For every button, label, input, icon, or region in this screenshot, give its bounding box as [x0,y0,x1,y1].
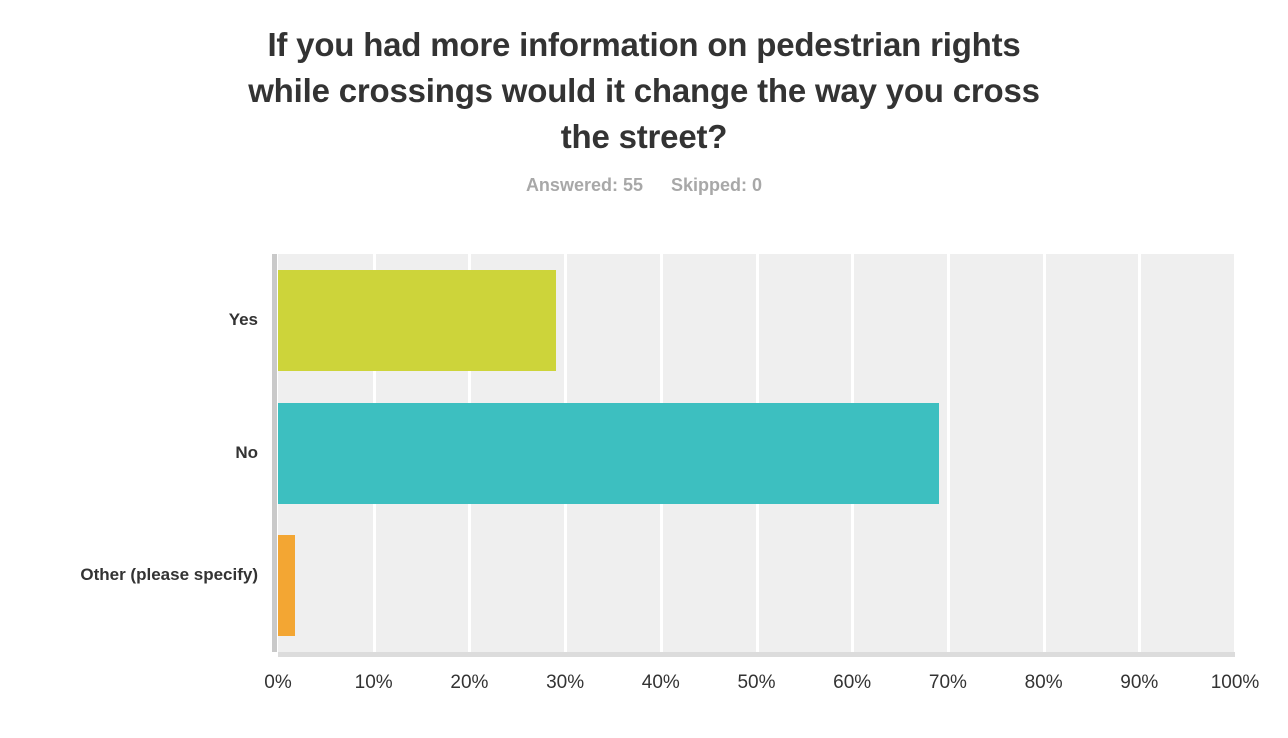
x-tick-label: 70% [929,672,967,694]
plot-area [278,254,1235,652]
x-axis-line [278,652,1235,657]
bar-no[interactable] [278,403,939,504]
x-tick-label: 80% [1025,672,1063,694]
x-tick-label: 0% [264,672,291,694]
y-axis-line [272,254,277,652]
plot-region: YesNoOther (please specify) 0%10%20%30%4… [0,0,1288,738]
x-tick-label: 100% [1211,672,1260,694]
bar-yes[interactable] [278,270,556,371]
x-tick-label: 90% [1120,672,1158,694]
x-tick-label: 50% [737,672,775,694]
category-label: Other (please specify) [28,563,258,586]
x-tick-label: 30% [546,672,584,694]
x-tick-label: 40% [642,672,680,694]
category-label: No [28,441,258,464]
x-tick-label: 60% [833,672,871,694]
x-tick-label: 10% [355,672,393,694]
bar-row [278,403,1235,504]
chart-container: If you had more information on pedestria… [0,0,1288,738]
x-tick-label: 20% [450,672,488,694]
bar-row [278,535,1235,636]
category-label: Yes [28,308,258,331]
bar-row [278,270,1235,371]
bar-other-please-specify[interactable] [278,535,295,636]
